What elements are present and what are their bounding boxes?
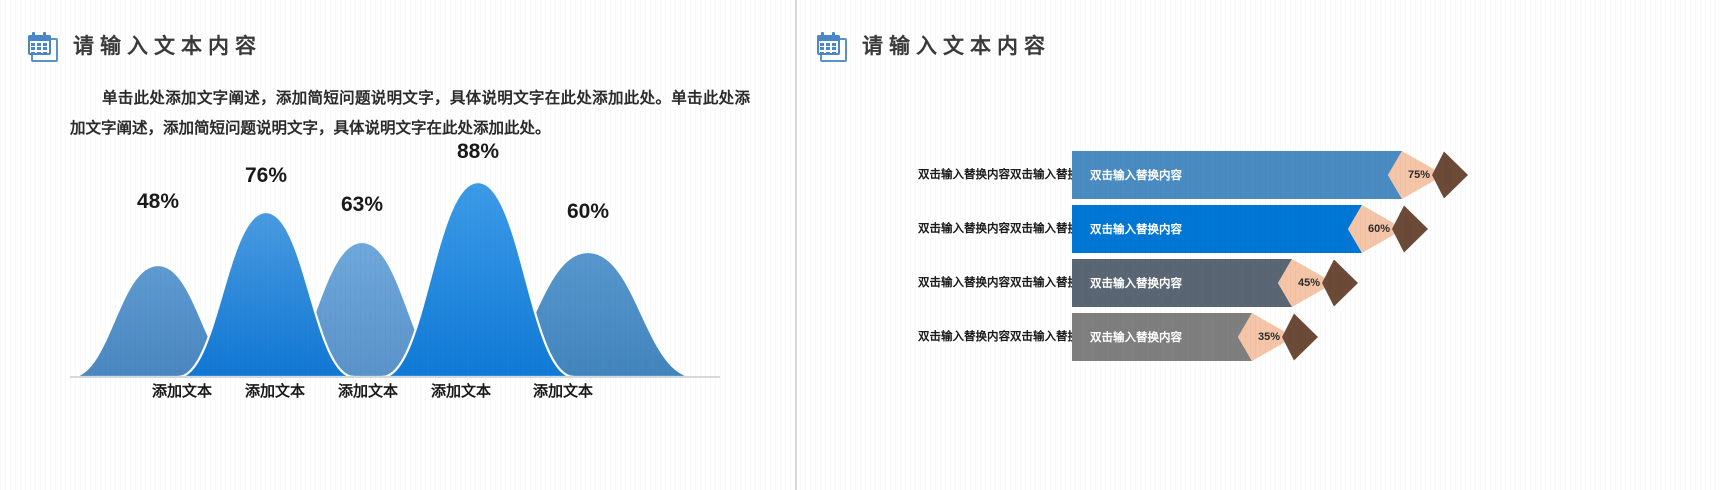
pencil-bar[interactable]: 双击输入替换内容 60% — [1072, 205, 1432, 253]
bell-curve-svg — [60, 140, 760, 400]
pencil-bar-row[interactable]: 双击输入替换内容双击输入替换内容 双击输入替换内容 45% — [797, 258, 1720, 308]
pencil-bar-percent: 60% — [1368, 223, 1390, 235]
right-header: 请输入文本内容 — [817, 30, 1051, 60]
left-header: 请输入文本内容 — [28, 30, 262, 60]
chart-category-label: 添加文本 — [245, 380, 305, 401]
pencil-bar[interactable]: 双击输入替换内容 45% — [1072, 259, 1362, 307]
bell-curve-chart: 48% 76% 63% 88% 60% 添加文本 添加文本 添加文本 添加文本 … — [60, 140, 760, 400]
left-slide-panel: 请输入文本内容 单击此处添加文字阐述，添加简短问题说明文字，具体说明文字在此处添… — [0, 0, 795, 490]
right-page-title: 请输入文本内容 — [862, 30, 1051, 60]
calendar-icon — [28, 32, 55, 59]
pencil-bar-text: 双击输入替换内容 — [1090, 275, 1182, 291]
pencil-bar-text: 双击输入替换内容 — [1090, 167, 1182, 183]
pencil-bar[interactable]: 双击输入替换内容 35% — [1072, 313, 1322, 361]
chart-category-label: 添加文本 — [533, 380, 593, 401]
left-page-title: 请输入文本内容 — [73, 30, 262, 60]
pencil-bar-text: 双击输入替换内容 — [1090, 329, 1182, 345]
row-label: 双击输入替换内容双击输入替换内容 — [867, 276, 1102, 290]
chart-category-label: 添加文本 — [338, 380, 398, 401]
chart-value-label: 63% — [341, 193, 383, 217]
pencil-bar-row[interactable]: 双击输入替换内容双击输入替换内容 双击输入替换内容 35% — [797, 312, 1720, 362]
left-body-text: 单击此处添加文字阐述，添加简短问题说明文字，具体说明文字在此处添加此处。单击此处… — [70, 84, 750, 144]
row-label: 双击输入替换内容双击输入替换内容 — [867, 168, 1102, 182]
pencil-bar-text: 双击输入替换内容 — [1090, 221, 1182, 237]
pencil-bar-row[interactable]: 双击输入替换内容双击输入替换内容 双击输入替换内容 60% — [797, 204, 1720, 254]
pencil-bar-row[interactable]: 双击输入替换内容双击输入替换内容 双击输入替换内容 75% — [797, 150, 1720, 200]
pencil-bar-percent: 35% — [1258, 331, 1280, 343]
pencil-bar-percent: 45% — [1298, 277, 1320, 289]
chart-value-label: 48% — [137, 190, 179, 214]
chart-value-label: 60% — [567, 200, 609, 224]
pencil-bar-percent: 75% — [1408, 169, 1430, 181]
pencil-bar[interactable]: 双击输入替换内容 75% — [1072, 151, 1472, 199]
panel-divider — [795, 0, 797, 490]
row-label: 双击输入替换内容双击输入替换内容 — [867, 222, 1102, 236]
chart-category-label: 添加文本 — [431, 380, 491, 401]
right-slide-panel: 请输入文本内容 双击输入替换内容双击输入替换内容 双击输入替换内容 75% 双击… — [797, 0, 1720, 490]
pencil-bar-chart: 双击输入替换内容双击输入替换内容 双击输入替换内容 75% 双击输入替换内容双击… — [797, 150, 1720, 366]
row-label: 双击输入替换内容双击输入替换内容 — [867, 330, 1102, 344]
calendar-icon — [817, 32, 844, 59]
chart-category-label: 添加文本 — [152, 380, 212, 401]
chart-value-label: 88% — [457, 140, 499, 164]
chart-value-label: 76% — [245, 164, 287, 188]
